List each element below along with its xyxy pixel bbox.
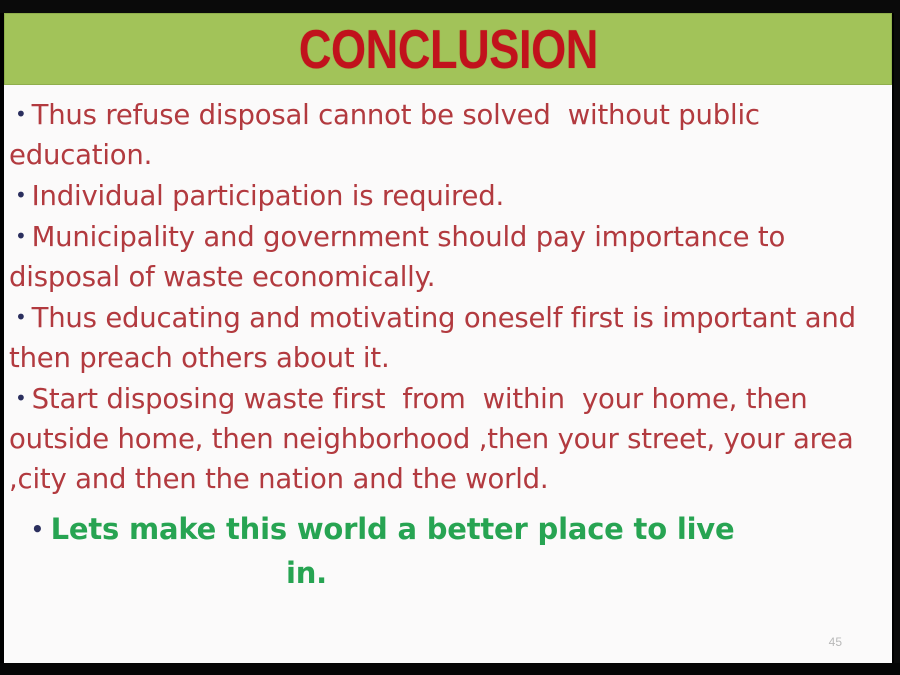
closing-statement-line-1: Lets make this world a better place to l… (51, 512, 735, 546)
bullet-dot-icon: • (9, 386, 32, 410)
bullet-item-2-text: Individual participation is required. (32, 180, 504, 212)
bullet-item-5: •Start disposing waste first from within… (9, 378, 882, 499)
bottom-letterbox-bar (0, 663, 900, 675)
bullet-item-5-text: Start disposing waste first from within … (9, 383, 862, 495)
slide-canvas: CONCLUSION •Thus refuse disposal cannot … (0, 0, 900, 675)
bullet-dot-icon: • (9, 224, 32, 248)
bullet-item-1-text: Thus refuse disposal cannot be solved wi… (9, 99, 768, 171)
closing-statement-line-2: in. (31, 551, 882, 595)
bullet-item-4-text: Thus educating and motivating oneself fi… (9, 302, 864, 374)
closing-statement: •Lets make this world a better place to … (9, 507, 882, 595)
slide-title-band: CONCLUSION (4, 13, 892, 85)
bullet-item-3: •Municipality and government should pay … (9, 216, 882, 297)
bullet-item-2: •Individual participation is required. (9, 175, 882, 216)
bullet-dot-icon: • (9, 102, 32, 126)
right-letterbox-edge (894, 0, 900, 675)
page-title: CONCLUSION (298, 22, 597, 77)
bullet-dot-icon: • (31, 517, 51, 541)
bullet-dot-icon: • (9, 305, 32, 329)
bullet-item-1: •Thus refuse disposal cannot be solved w… (9, 94, 882, 175)
top-letterbox-bar (0, 0, 900, 13)
bullet-item-3-text: Municipality and government should pay i… (9, 221, 794, 293)
slide-content: •Thus refuse disposal cannot be solved w… (4, 85, 892, 663)
bullet-item-4: •Thus educating and motivating oneself f… (9, 297, 882, 378)
bullet-dot-icon: • (9, 183, 32, 207)
page-number: 45 (829, 635, 842, 649)
